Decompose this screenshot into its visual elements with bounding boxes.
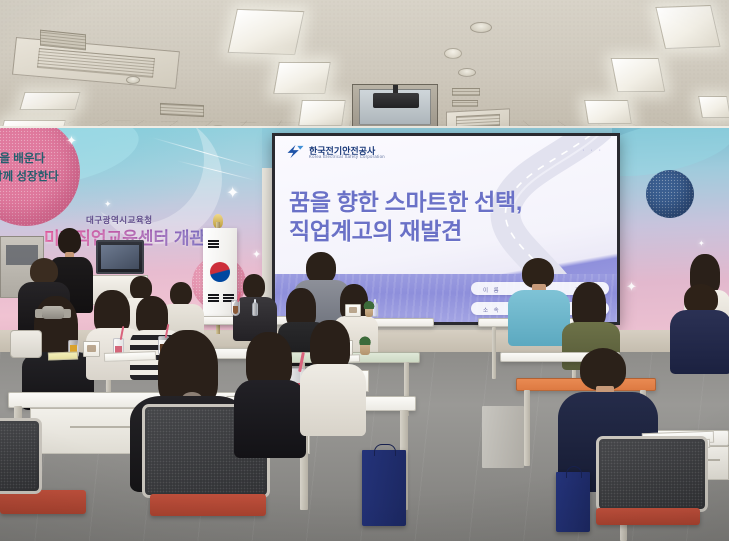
head — [170, 282, 192, 306]
slide-dots-decoration: · · · — [582, 147, 603, 154]
torso — [508, 290, 570, 346]
hair — [310, 320, 350, 370]
sparkle-star-icon: ✦ — [698, 240, 705, 248]
light-panel — [584, 100, 632, 124]
projector-icon — [373, 93, 419, 108]
trigram-icon — [208, 294, 219, 296]
chair-seat — [150, 494, 266, 516]
ceiling-vent — [452, 100, 478, 107]
chair-back — [0, 418, 42, 494]
light-panel — [228, 9, 305, 55]
ceiling-vent — [160, 103, 204, 117]
torso — [670, 310, 729, 374]
sparkle-star-icon: ✦ — [66, 134, 77, 147]
head — [30, 258, 58, 284]
ceiling — [0, 0, 729, 132]
banner-crescent-moon — [74, 128, 204, 224]
slide-org-name-en: Korea Electrical Safety Corporation — [309, 154, 385, 159]
torso — [234, 380, 306, 458]
sparkle-star-icon: ✦ — [252, 250, 261, 261]
classroom-photo-scene: ✦ ✦ ✦ ✦ ✦ …을 배운다 함께 성장한다 대구광역시교육청 미래직업교육… — [0, 0, 729, 541]
gray-tote-bag — [482, 406, 524, 468]
sprinkler-head — [458, 68, 476, 77]
drink-fill — [233, 306, 238, 314]
sprinkler-head — [470, 22, 492, 33]
table-leg — [524, 390, 530, 466]
chair-seat — [596, 508, 700, 525]
name-placard — [83, 341, 100, 357]
sparkle-star-icon: ✦ — [226, 186, 239, 202]
taeguk-symbol-icon — [210, 262, 230, 282]
light-panel — [655, 5, 720, 49]
planet-navy-icon — [646, 170, 694, 218]
ceiling-vent — [452, 88, 480, 96]
hair-bow — [42, 306, 64, 319]
name-placard — [345, 304, 361, 317]
trigram-icon — [208, 240, 219, 242]
torso — [300, 364, 366, 436]
sparkle-star-icon: ✦ — [104, 200, 112, 209]
banner-tagline-line2: 함께 성장한다 — [0, 168, 59, 184]
hair — [136, 296, 168, 334]
presenter-head — [58, 228, 81, 254]
table-leg — [492, 327, 496, 379]
chair-back — [596, 436, 708, 512]
sprinkler-head — [126, 76, 140, 84]
head — [243, 274, 265, 299]
sparkle-star-icon: ✦ — [626, 280, 637, 293]
light-panel — [298, 100, 346, 126]
water-bottle — [252, 302, 258, 316]
presenter-monitor — [96, 240, 144, 274]
potted-plant — [365, 308, 373, 317]
light-panel — [611, 58, 666, 92]
light-panel — [273, 62, 331, 94]
trigram-icon — [223, 294, 234, 296]
paper-handout — [104, 351, 156, 362]
navy-gift-bag — [362, 450, 406, 526]
slide-headline-line2: 직업계고의 재발견 — [289, 212, 462, 246]
banner-tagline-line1: …을 배운다 — [0, 150, 45, 166]
kesco-logo-icon — [286, 144, 305, 159]
slide-field-label: 이 름 — [483, 286, 501, 294]
iced-drink-cup — [231, 300, 240, 316]
projector-housing — [352, 84, 438, 130]
smoke-detector — [444, 48, 462, 59]
slide-field-label: 소 속 — [483, 306, 501, 314]
paper-handout — [48, 351, 78, 360]
handbag — [10, 330, 42, 358]
light-panel — [698, 96, 729, 118]
blue-gift-bag — [556, 472, 590, 532]
light-panel — [19, 92, 80, 110]
potted-plant — [360, 344, 370, 355]
head — [580, 348, 626, 390]
